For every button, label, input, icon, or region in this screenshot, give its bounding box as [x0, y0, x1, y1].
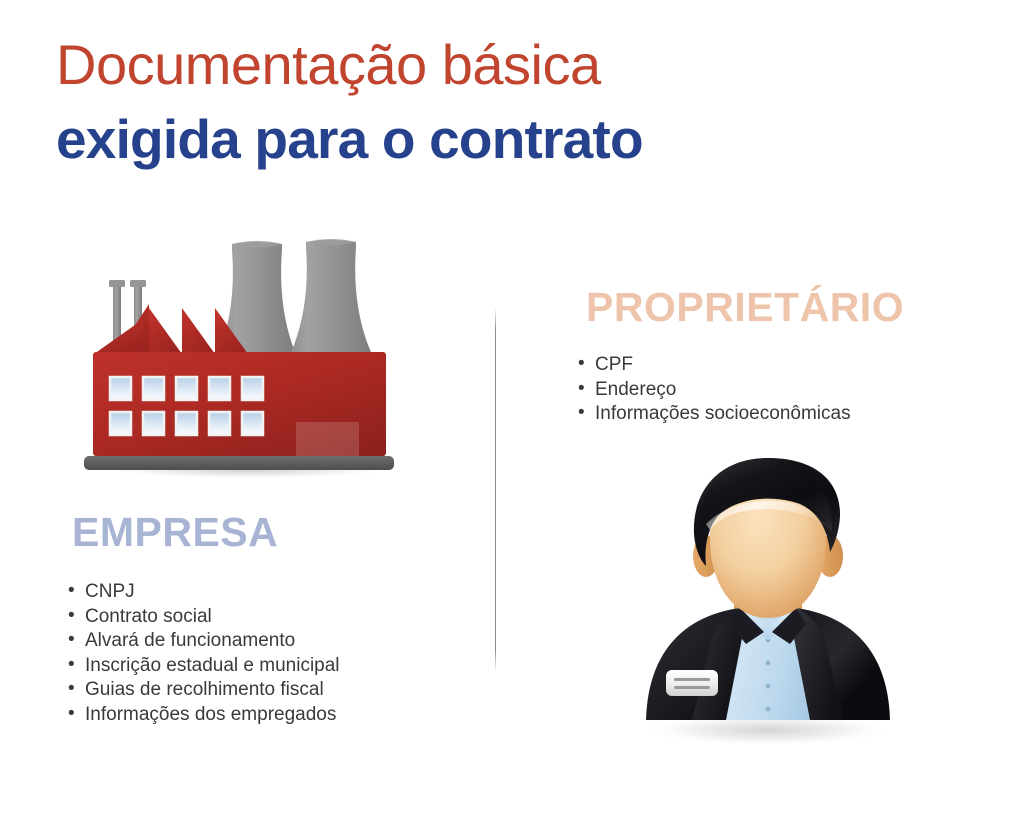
factory-window: [176, 377, 197, 400]
list-item: Guias de recolhimento fiscal: [68, 678, 340, 703]
businessman-avatar-icon: [622, 442, 912, 752]
factory-window: [143, 377, 164, 400]
owner-illustration: [622, 442, 912, 752]
factory-window: [209, 377, 230, 400]
list-item: CNPJ: [68, 580, 340, 605]
section-heading-empresa: EMPRESA: [72, 509, 278, 556]
list-item: CPF: [578, 353, 851, 378]
owner-pocket-badge-line-1: [674, 678, 710, 681]
list-item: Endereço: [578, 378, 851, 403]
list-item: Informações dos empregados: [68, 703, 340, 728]
factory-window: [176, 412, 197, 435]
list-item: Alvará de funcionamento: [68, 629, 340, 654]
section-heading-proprietario: PROPRIETÁRIO: [586, 284, 904, 331]
vertical-divider: [495, 308, 496, 672]
factory-window: [110, 412, 131, 435]
chimney-left-cap: [109, 280, 125, 287]
empresa-requirements-list: CNPJ Contrato social Alvará de funcionam…: [68, 580, 340, 727]
owner-pocket-badge-line-2: [674, 686, 710, 689]
factory-illustration: [82, 232, 412, 482]
factory-window: [209, 412, 230, 435]
factory-base: [84, 456, 394, 470]
list-item: Contrato social: [68, 605, 340, 630]
factory-icon: [82, 232, 412, 482]
cooling-tower-right: [290, 240, 372, 354]
list-item: Informações socioeconômicas: [578, 402, 851, 427]
factory-window: [242, 412, 263, 435]
proprietario-requirements-list: CPF Endereço Informações socioeconômicas: [578, 353, 851, 427]
owner-pocket-badge: [666, 670, 718, 696]
factory-window: [143, 412, 164, 435]
page-title-line-1: Documentação básica: [56, 36, 956, 95]
list-item: Inscrição estadual e municipal: [68, 654, 340, 679]
factory-window: [110, 377, 131, 400]
page-title: Documentação básica exigida para o contr…: [56, 36, 956, 169]
page-title-line-2: exigida para o contrato: [56, 111, 956, 169]
factory-window: [242, 377, 263, 400]
chimney-right-cap: [130, 280, 146, 287]
factory-door: [296, 422, 359, 456]
